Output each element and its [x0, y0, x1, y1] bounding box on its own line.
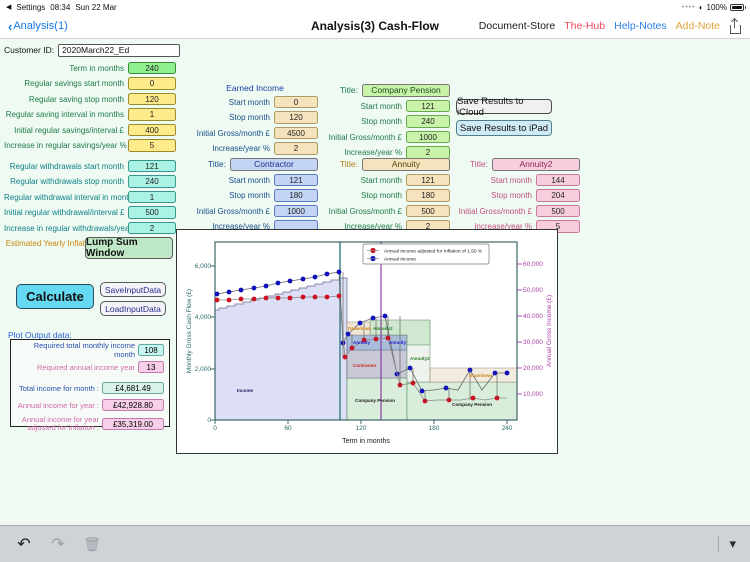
chart-svg: 0 2,000 4,000 6,000 Monthly Gross Cash F…	[177, 230, 556, 452]
toolbar-divider	[718, 536, 719, 552]
input-annuity2-title[interactable]: Annuity2	[492, 158, 580, 171]
svg-text:Annuity2: Annuity2	[373, 326, 393, 331]
undo-icon[interactable]: ↶	[14, 534, 34, 554]
label-contractor-stop-month: Stop month	[190, 191, 274, 200]
svg-text:60,000: 60,000	[523, 261, 543, 268]
input-company-pension-gross-month[interactable]: 1000	[406, 131, 450, 144]
row-earned-increase: Increase/year % 2	[190, 142, 320, 156]
status-dots-icon: ••••	[682, 4, 696, 11]
label-initial-savings: Initial regular savings/interval £	[4, 126, 128, 135]
battery-icon	[730, 4, 744, 11]
input-earned-increase-year[interactable]: 2	[274, 142, 318, 155]
wifi-icon: ◐	[699, 3, 704, 12]
label-annual-income-adjusted: Annual income for year adjusted for Infl…	[11, 416, 102, 432]
chevron-left-icon: ‹	[8, 19, 12, 34]
row-annuity2-title: Title: Annuity2	[452, 157, 582, 171]
svg-text:Company Pension: Company Pension	[452, 402, 492, 407]
output-row-annual-income: Annual income for year : £42,928.80	[11, 398, 169, 412]
svg-text:240: 240	[502, 425, 513, 432]
output-row-monthly-income-month: Required total monthly income month 108	[11, 343, 169, 357]
field-row-initial-savings: Initial regular savings/interval £ 400	[4, 123, 180, 137]
label-initial-withdrawal: Initial regular withdrawal/interval £	[4, 208, 128, 217]
status-date: Sun 22 Mar	[75, 3, 116, 12]
svg-text:0: 0	[213, 425, 217, 432]
label-earned-gross-month: Initial Gross/month £	[190, 129, 274, 138]
input-savings-start-month[interactable]: 0	[128, 77, 176, 90]
input-savings-interval[interactable]: 1	[128, 108, 176, 121]
label-savings-stop-month: Regular saving stop month	[4, 95, 128, 104]
label-company-pension-title: Title:	[322, 85, 362, 95]
row-annuity-title: Title: Annuity	[322, 157, 452, 171]
chart-ylabel-right: Annual Gross Income (£)	[546, 295, 553, 367]
row-earned-gross: Initial Gross/month £ 4500	[190, 126, 320, 140]
field-row-increase-savings: Increase in regular savings/year % 5	[4, 139, 180, 153]
field-row-withdrawals-start-month: Regular withdrawals start month 121	[4, 159, 180, 173]
svg-text:Drawdown: Drawdown	[469, 373, 492, 378]
input-earned-gross-month[interactable]: 4500	[274, 127, 318, 140]
svg-text:60: 60	[284, 425, 292, 432]
svg-text:Annual Income adjusted for Inf: Annual Income adjusted for Inflation of …	[384, 249, 483, 255]
input-contractor-start-month[interactable]: 121	[274, 174, 318, 187]
input-term-in-months[interactable]: 240	[128, 62, 176, 75]
input-annuity2-start-month[interactable]: 144	[536, 174, 580, 187]
svg-text:120: 120	[356, 425, 367, 432]
cash-flow-chart[interactable]: 0 2,000 4,000 6,000 Monthly Gross Cash F…	[176, 229, 558, 454]
input-earned-stop-month[interactable]: 120	[274, 111, 318, 124]
input-contractor-stop-month[interactable]: 180	[274, 189, 318, 202]
row-annuity-start-month: Start month 121	[322, 173, 452, 187]
svg-text:180: 180	[429, 425, 440, 432]
svg-text:30,000: 30,000	[523, 339, 543, 346]
svg-text:20,000: 20,000	[523, 365, 543, 372]
input-annuity-start-month[interactable]: 121	[406, 174, 450, 187]
output-row-annual-income-adjusted: Annual income for year adjusted for Infl…	[11, 415, 169, 433]
bottom-toolbar: ↶ ↷ 🗑 ▾	[0, 525, 750, 562]
header-earned-income: Earned Income	[190, 83, 320, 93]
save-input-data-button[interactable]: SaveInputData	[100, 282, 166, 297]
value-annual-income-adjusted: £35,319.00	[102, 418, 164, 430]
input-annuity-stop-month[interactable]: 180	[406, 189, 450, 202]
chart-y-axis-right: 10,000 20,000 30,000 40,000 50,000 60,00…	[523, 261, 543, 398]
main-content: Customer ID: 2020March22_Ed Term in mont…	[0, 39, 750, 522]
field-row-term-in-months: Term in months 240	[4, 61, 180, 75]
field-row-savings-start-month: Regular savings start month 0	[4, 77, 180, 91]
row-earned-start-month: Start month 0	[190, 95, 320, 109]
chart-y-ticks-right	[517, 264, 522, 394]
input-earned-start-month[interactable]: 0	[274, 96, 318, 109]
nav-link-add-note[interactable]: Add-Note	[676, 20, 720, 32]
block-company-pension: Title: Company Pension Start month 121 S…	[322, 83, 452, 161]
customer-id-label: Customer ID:	[4, 45, 58, 55]
row-company-pension-gross: Initial Gross/month £ 1000	[322, 130, 452, 144]
label-annuity-stop-month: Stop month	[322, 191, 406, 200]
redo-icon[interactable]: ↷	[48, 534, 68, 554]
label-annuity-start-month: Start month	[322, 176, 406, 185]
input-initial-withdrawal[interactable]: 500	[128, 206, 176, 219]
label-withdrawals-stop-month: Regular withdrawals stop month	[4, 177, 128, 186]
label-annuity2-start-month: Start month	[452, 176, 536, 185]
back-button-label: Analysis(1)	[13, 20, 67, 32]
label-savings-start-month: Regular savings start month	[4, 79, 128, 88]
input-withdrawals-start-month[interactable]: 121	[128, 160, 176, 173]
label-withdrawals-start-month: Regular withdrawals start month	[4, 162, 128, 171]
input-annuity2-stop-month[interactable]: 204	[536, 189, 580, 202]
block-annuity2: Title: Annuity2 Start month 144 Stop mon…	[452, 157, 582, 235]
row-annuity2-stop-month: Stop month 204	[452, 189, 582, 203]
row-company-pension-start-month: Start month 121	[322, 99, 452, 113]
output-row-total-income-month: Total income for month : £4,681.49	[11, 381, 169, 395]
input-company-pension-title[interactable]: Company Pension	[362, 84, 450, 97]
chart-x-axis: 060120 180240	[213, 425, 513, 432]
svg-text:2,000: 2,000	[195, 366, 212, 373]
field-row-withdrawal-interval: Regular withdrawal interval in months 1	[4, 190, 180, 204]
row-annuity2-start-month: Start month 144	[452, 173, 582, 187]
input-company-pension-stop-month[interactable]: 240	[406, 115, 450, 128]
label-earned-stop-month: Stop month	[190, 113, 274, 122]
label-term-in-months: Term in months	[4, 64, 128, 73]
label-annuity2-title: Title:	[452, 159, 492, 169]
row-contractor-start-month: Start month 121	[190, 173, 320, 187]
input-annuity-title[interactable]: Annuity	[362, 158, 450, 171]
nav-link-help-notes[interactable]: Help-Notes	[614, 20, 667, 32]
svg-text:Contractor: Contractor	[353, 363, 377, 368]
svg-text:Drawdown: Drawdown	[348, 326, 371, 331]
svg-text:6,000: 6,000	[195, 263, 212, 270]
label-earned-start-month: Start month	[190, 98, 274, 107]
chart-ylabel-left: Monthly Gross Cash Flow (£)	[186, 289, 193, 373]
label-company-pension-start-month: Start month	[322, 102, 406, 111]
label-company-pension-increase-year: Increase/year %	[322, 148, 406, 157]
output-row-annual-income-year: Required annual income year 13	[11, 360, 169, 374]
chart-xlabel: Term in months	[342, 438, 390, 445]
label-required-annual-income-year: Required annual income year	[11, 363, 138, 372]
input-parameters-panel: Customer ID: 2020March22_Ed Term in mont…	[4, 43, 180, 252]
svg-text:Annual Income: Annual Income	[384, 257, 416, 263]
row-annuity2-gross: Initial Gross/month £ 500	[452, 204, 582, 218]
label-annuity2-stop-month: Stop month	[452, 191, 536, 200]
svg-text:50,000: 50,000	[523, 287, 543, 294]
input-savings-stop-month[interactable]: 120	[128, 93, 176, 106]
status-battery-pct: 100%	[707, 3, 727, 12]
chart-y-ticks-left	[210, 266, 215, 420]
row-contractor-title: Title: Contractor	[190, 157, 320, 171]
block-annuity: Title: Annuity Start month 121 Stop mont…	[322, 157, 452, 235]
svg-text:40,000: 40,000	[523, 313, 543, 320]
status-settings-label[interactable]: Settings	[16, 3, 45, 12]
calculate-button[interactable]: Calculate	[16, 284, 94, 309]
label-company-pension-stop-month: Stop month	[322, 117, 406, 126]
row-company-pension-stop-month: Stop month 240	[322, 115, 452, 129]
svg-text:Income: Income	[237, 388, 254, 393]
value-annual-income-for-year: £42,928.80	[102, 399, 164, 411]
field-row-withdrawals-stop-month: Regular withdrawals stop month 240	[4, 175, 180, 189]
input-annuity-gross-month[interactable]: 500	[406, 205, 450, 218]
label-increase-withdrawals: Increase in regular withdrawals/year %	[4, 224, 128, 233]
chart-y-axis-left: 0 2,000 4,000 6,000	[195, 263, 212, 424]
trash-icon[interactable]: 🗑	[82, 534, 102, 554]
row-company-pension-title: Title: Company Pension	[322, 83, 452, 97]
input-contractor-gross-month[interactable]: 1000	[274, 205, 318, 218]
chart-x-ticks	[215, 420, 507, 424]
input-initial-savings[interactable]: 400	[128, 124, 176, 137]
label-withdrawal-interval: Regular withdrawal interval in months	[4, 193, 128, 202]
label-contractor-start-month: Start month	[190, 176, 274, 185]
input-annuity2-gross-month[interactable]: 500	[536, 205, 580, 218]
label-company-pension-gross-month: Initial Gross/month £	[322, 133, 406, 142]
row-annuity-gross: Initial Gross/month £ 500	[322, 204, 452, 218]
save-results-to-ipad-button[interactable]: Save Results to iPad	[456, 120, 552, 136]
svg-text:Annuity2: Annuity2	[410, 356, 430, 361]
svg-text:10,000: 10,000	[523, 391, 543, 398]
input-withdrawals-stop-month[interactable]: 240	[128, 175, 176, 188]
chevron-down-icon[interactable]: ▾	[729, 536, 736, 552]
value-total-income-for-month: £4,681.49	[102, 382, 164, 394]
field-row-savings-interval: Regular saving interval in months 1	[4, 108, 180, 122]
row-annuity-stop-month: Stop month 180	[322, 189, 452, 203]
field-row-savings-stop-month: Regular saving stop month 120	[4, 92, 180, 106]
svg-text:Annuity: Annuity	[353, 340, 371, 345]
label-annuity2-gross-month: Initial Gross/month £	[452, 207, 536, 216]
label-contractor-gross-month: Initial Gross/month £	[190, 207, 274, 216]
row-earned-stop-month: Stop month 120	[190, 111, 320, 125]
input-increase-savings[interactable]: 5	[128, 139, 176, 152]
field-row-initial-withdrawal: Initial regular withdrawal/interval £ 50…	[4, 206, 180, 220]
label-earned-increase-year: Increase/year %	[190, 144, 274, 153]
row-contractor-gross: Initial Gross/month £ 1000	[190, 204, 320, 218]
navigation-bar: ‹ Analysis(1) Analysis(3) Cash-Flow Docu…	[0, 14, 750, 39]
label-increase-savings: Increase in regular savings/year %	[4, 141, 128, 150]
label-annuity-title: Title:	[322, 159, 362, 169]
label-savings-interval: Regular saving interval in months	[4, 110, 128, 119]
input-withdrawal-interval[interactable]: 1	[128, 191, 176, 204]
field-row-increase-withdrawals: Increase in regular withdrawals/year % 2	[4, 221, 180, 235]
save-results-to-icloud-button[interactable]: Save Results to iCloud	[456, 99, 552, 114]
block-contractor: Title: Contractor Start month 121 Stop m…	[190, 157, 320, 235]
input-company-pension-start-month[interactable]: 121	[406, 100, 450, 113]
status-time: 08:34	[50, 3, 70, 12]
svg-text:Annuity: Annuity	[389, 340, 407, 345]
label-total-income-for-month: Total income for month :	[11, 384, 102, 393]
lump-sum-window-button[interactable]: Lump Sum Window	[85, 237, 173, 259]
ios-status-bar: ◀ Settings 08:34 Sun 22 Mar •••• ◐ 100%	[0, 0, 750, 14]
input-contractor-title[interactable]: Contractor	[230, 158, 318, 171]
customer-id-row: Customer ID: 2020March22_Ed	[4, 43, 180, 57]
share-icon[interactable]	[729, 19, 742, 34]
svg-text:0: 0	[207, 417, 211, 424]
svg-text:4,000: 4,000	[195, 314, 212, 321]
row-contractor-stop-month: Stop month 180	[190, 189, 320, 203]
nav-link-the-hub[interactable]: The-Hub	[564, 20, 605, 32]
plot-output-panel: Required total monthly income month 108 …	[10, 339, 170, 427]
load-input-data-button[interactable]: LoadInputData	[100, 301, 166, 316]
back-button[interactable]: ‹ Analysis(1)	[8, 19, 68, 34]
input-required-monthly-income-month[interactable]: 108	[138, 344, 164, 356]
label-annuity-gross-month: Initial Gross/month £	[322, 207, 406, 216]
label-required-monthly-income-month: Required total monthly income month	[11, 341, 138, 359]
label-contractor-title: Title:	[190, 159, 230, 169]
area-annuity2-right	[407, 345, 430, 382]
status-back-arrow-icon: ◀	[6, 3, 11, 11]
customer-id-input[interactable]: 2020March22_Ed	[58, 44, 180, 57]
input-required-annual-income-year[interactable]: 13	[138, 361, 164, 373]
input-increase-withdrawals[interactable]: 2	[128, 222, 176, 235]
label-annual-income-for-year: Annual income for year :	[11, 401, 102, 410]
chart-legend: Annual Income adjusted for Inflation of …	[363, 244, 489, 264]
nav-link-document-store[interactable]: Document-Store	[479, 20, 555, 32]
svg-text:Company Pension: Company Pension	[355, 398, 395, 403]
block-earned-income: Earned Income Start month 0 Stop month 1…	[190, 83, 320, 157]
